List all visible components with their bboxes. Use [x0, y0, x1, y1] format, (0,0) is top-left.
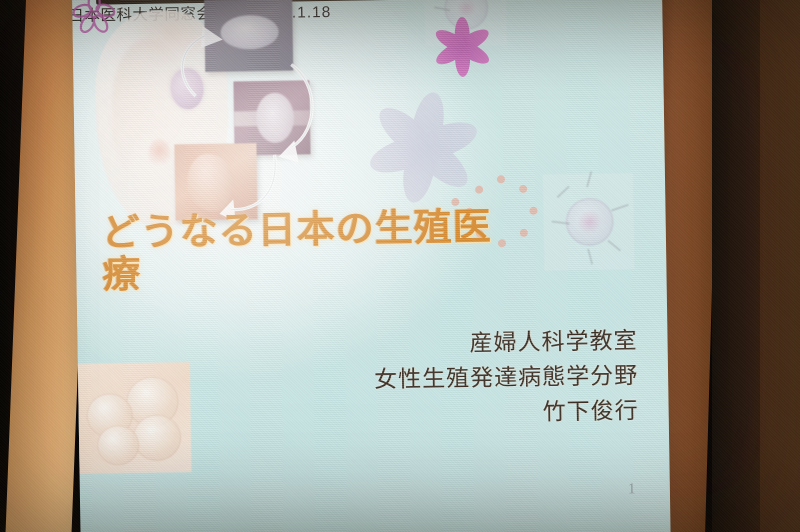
affiliation-line-2: 女性生殖発達病態学分野 [278, 358, 639, 399]
flower-outline-pink-icon [72, 0, 117, 36]
cycle-arrows-icon [76, 0, 370, 238]
oocyte-with-sperm-middle-icon [543, 173, 634, 270]
lecture-slide-photograph: 日本医科大学同窓会講演2015.1.18 [0, 0, 800, 532]
flower-pink-icon [424, 9, 499, 84]
slide-page-number: 1 [628, 481, 636, 498]
cleavage-stage-embryo-icon [74, 362, 192, 474]
wall-far-right-panel [760, 0, 800, 532]
anatomy-diagram [76, 0, 370, 238]
projection-screen: 日本医科大学同窓会講演2015.1.18 [72, 0, 671, 532]
affiliation-block: 産婦人科学教室 女性生殖発達病態学分野 竹下俊行 [277, 323, 639, 434]
affiliation-line-1: 産婦人科学教室 [277, 323, 638, 364]
slide-title: どうなる日本の生殖医療 [101, 207, 522, 297]
presenter-name: 竹下俊行 [278, 393, 639, 434]
